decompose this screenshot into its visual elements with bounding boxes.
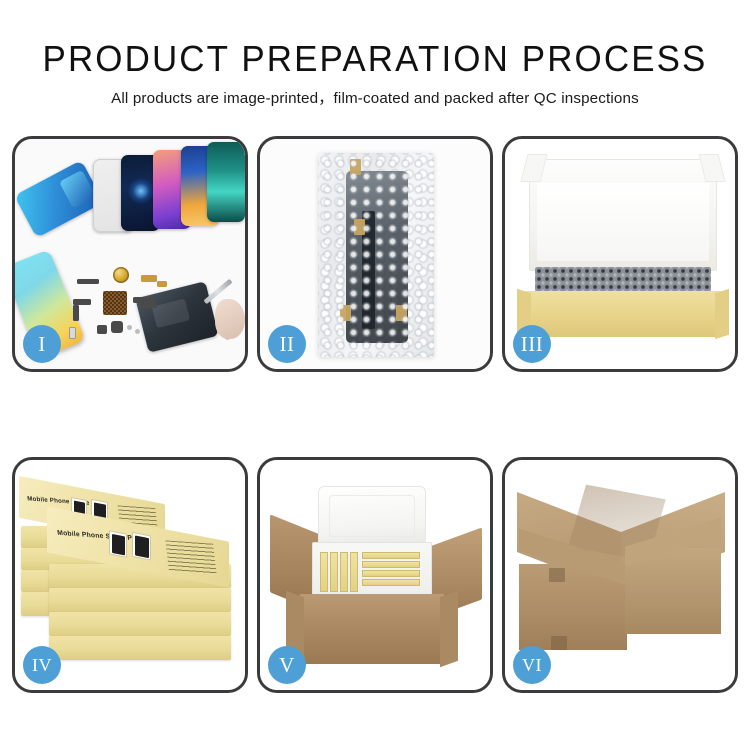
small-screw-b-icon (135, 329, 140, 334)
hand-icon (215, 299, 245, 339)
step-panel-5[interactable]: V (257, 457, 493, 693)
carton-side-face-icon (625, 548, 721, 634)
step-image-4: Mobile Phone Spare Parts Mobile Phone Sp… (15, 460, 245, 690)
bubble-wrap-bag-icon (318, 153, 434, 357)
page-title: PRODUCT PREPARATION PROCESS (11, 38, 739, 80)
step-badge-6: VI (513, 646, 551, 684)
step-badge-2: II (268, 325, 306, 363)
stacked-box-r2 (49, 588, 231, 612)
phone-teal-icon (207, 142, 245, 222)
step-panel-2[interactable]: II (257, 136, 493, 372)
camera-module-icon (111, 321, 123, 333)
step-image-5: V (260, 460, 490, 690)
carton-body-icon (300, 594, 444, 664)
step-panel-3[interactable]: III (502, 136, 738, 372)
step-badge-4: IV (23, 646, 61, 684)
speaker-coil-icon (113, 267, 129, 283)
step-image-6: VI (505, 460, 735, 690)
small-screw-a-icon (127, 325, 132, 330)
page-subtitle: All products are image-printed，film-coat… (0, 89, 750, 108)
phone-teardown-backplate-icon (135, 281, 218, 353)
carton-front-face-icon (519, 564, 627, 650)
header: PRODUCT PREPARATION PROCESS All products… (0, 0, 750, 108)
step-panel-6[interactable]: VI (502, 457, 738, 693)
step-image-3: III (505, 139, 735, 369)
carton-tape-upper-icon (549, 568, 565, 582)
sim-tray-icon (69, 327, 76, 339)
tape-tab-top-icon (350, 159, 361, 175)
stacked-box-r4 (49, 636, 231, 660)
battery-strip-icon (77, 279, 99, 284)
step-image-1: I (15, 139, 245, 369)
loaded-boxes-icon (320, 550, 424, 594)
box-spec-lines-front (165, 540, 216, 574)
step-badge-1: I (23, 325, 61, 363)
flex-cable-right-2-icon (141, 303, 157, 308)
vibration-motor-icon (97, 325, 107, 334)
step-panel-4[interactable]: Mobile Phone Spare Parts Mobile Phone Sp… (12, 457, 248, 693)
step-panel-1[interactable]: I (12, 136, 248, 372)
blue-adhesive-film-icon (15, 160, 104, 238)
flex-cable-vertical-icon (73, 305, 79, 321)
box-thumb-front-2 (132, 532, 151, 561)
tape-tab-mid-icon (354, 219, 365, 235)
yellow-box-base-icon (525, 291, 721, 337)
carton-tape-lower-icon (551, 636, 567, 650)
product-preparation-infographic: PRODUCT PREPARATION PROCESS All products… (0, 0, 750, 750)
tape-tab-left-icon (340, 305, 351, 321)
foam-cooler-lid-icon (318, 486, 426, 548)
step-badge-3: III (513, 325, 551, 363)
tape-tab-right-icon (396, 305, 407, 321)
stacked-box-r3 (49, 612, 231, 636)
step-badge-5: V (268, 646, 306, 684)
box-thumb-front-1 (109, 530, 127, 557)
gold-bracket-icon (157, 281, 167, 287)
foam-sheet-icon (537, 183, 709, 261)
step-image-2: II (260, 139, 490, 369)
gold-flex-connector-icon (141, 275, 157, 282)
steps-grid: I II (12, 136, 738, 693)
ic-chip-grid-icon (103, 291, 127, 315)
